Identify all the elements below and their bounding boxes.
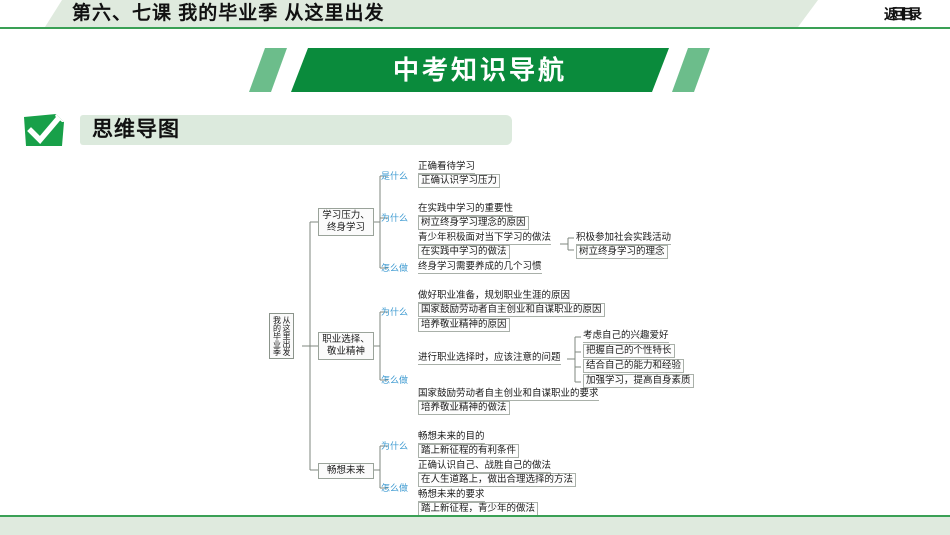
- leaf-item[interactable]: 做好职业准备，规划职业生涯的原因: [418, 290, 570, 303]
- leaf-item[interactable]: 踏上新征程的有利条件: [418, 444, 519, 458]
- page-footer-bar: [0, 515, 950, 535]
- leaf-subitem[interactable]: 把握自己的个性特长: [583, 344, 675, 358]
- root-col-right: 从这里出发: [282, 316, 291, 356]
- leaf-item[interactable]: 国家鼓励劳动者自主创业和自谋职业的要求: [418, 388, 599, 401]
- leaf-item[interactable]: 青少年积极面对当下学习的做法: [418, 232, 551, 245]
- mindmap-root-node[interactable]: 从这里出发 我的毕业季: [269, 313, 294, 359]
- leaf-item[interactable]: 在实践中学习的做法: [418, 245, 510, 259]
- section-banner: 中考知识导航: [0, 48, 950, 92]
- mindmap-section-header: 思维导图: [22, 113, 512, 147]
- return-to-contents-label: 返回目录: [884, 3, 916, 25]
- leaf-subitem[interactable]: 结合自己的能力和经验: [583, 359, 684, 373]
- category-label[interactable]: 怎么做: [381, 481, 408, 494]
- leaf-item[interactable]: 畅想未来的要求: [418, 489, 485, 502]
- leaf-item[interactable]: 培养敬业精神的原因: [418, 318, 510, 332]
- leaf-item[interactable]: 畅想未来的目的: [418, 431, 485, 444]
- leaf-item[interactable]: 正确认识自己、战胜自己的做法: [418, 460, 551, 473]
- leaf-item[interactable]: 进行职业选择时，应该注意的问题: [418, 352, 561, 365]
- leaf-item[interactable]: 踏上新征程，青少年的做法: [418, 502, 538, 516]
- mindmap-branch-3[interactable]: 畅想未来: [318, 463, 374, 479]
- category-label[interactable]: 怎么做: [381, 373, 408, 386]
- leaf-item[interactable]: 培养敬业精神的做法: [418, 401, 510, 415]
- return-to-contents-button[interactable]: 返回目录: [798, 0, 950, 27]
- mindmap-branch-2[interactable]: 职业选择、 敬业精神: [318, 332, 374, 360]
- header-underline: [0, 27, 950, 29]
- root-col-left: 我的毕业季: [273, 316, 282, 356]
- mindmap: 从这里出发 我的毕业季 学习压力、 终身学习 职业选择、 敬业精神 畅想未来 是…: [0, 150, 950, 520]
- leaf-item[interactable]: 在实践中学习的重要性: [418, 203, 513, 216]
- leaf-item[interactable]: 正确看待学习: [418, 161, 475, 174]
- category-label[interactable]: 怎么做: [381, 261, 408, 274]
- mindmap-branch-1[interactable]: 学习压力、 终身学习: [318, 208, 374, 236]
- page-header: 第六、七课 我的毕业季 从这里出发 返回目录: [0, 0, 950, 30]
- leaf-subitem[interactable]: 积极参加社会实践活动: [576, 232, 671, 245]
- leaf-subitem[interactable]: 考虑自己的兴趣爱好: [583, 330, 669, 343]
- category-label[interactable]: 为什么: [381, 439, 408, 452]
- section-title: 思维导图: [92, 116, 180, 144]
- category-label[interactable]: 是什么: [381, 169, 408, 182]
- leaf-item[interactable]: 终身学习需要养成的几个习惯: [418, 261, 542, 274]
- leaf-item[interactable]: 树立终身学习理念的原因: [418, 216, 529, 230]
- leaf-subitem[interactable]: 加强学习，提高自身素质: [583, 374, 694, 388]
- check-badge-icon: [22, 113, 66, 147]
- leaf-item[interactable]: 国家鼓励劳动者自主创业和自谋职业的原因: [418, 303, 605, 317]
- leaf-item[interactable]: 在人生道路上，做出合理选择的方法: [418, 473, 576, 487]
- banner-right-chevron-icon: [672, 48, 710, 92]
- leaf-item[interactable]: 正确认识学习压力: [418, 174, 500, 188]
- page-title: 第六、七课 我的毕业季 从这里出发: [72, 1, 385, 27]
- category-label[interactable]: 为什么: [381, 211, 408, 224]
- leaf-subitem[interactable]: 树立终身学习的理念: [576, 245, 668, 259]
- banner-left-chevron-icon: [249, 48, 287, 92]
- banner-title: 中考知识导航: [291, 48, 669, 92]
- category-label[interactable]: 为什么: [381, 305, 408, 318]
